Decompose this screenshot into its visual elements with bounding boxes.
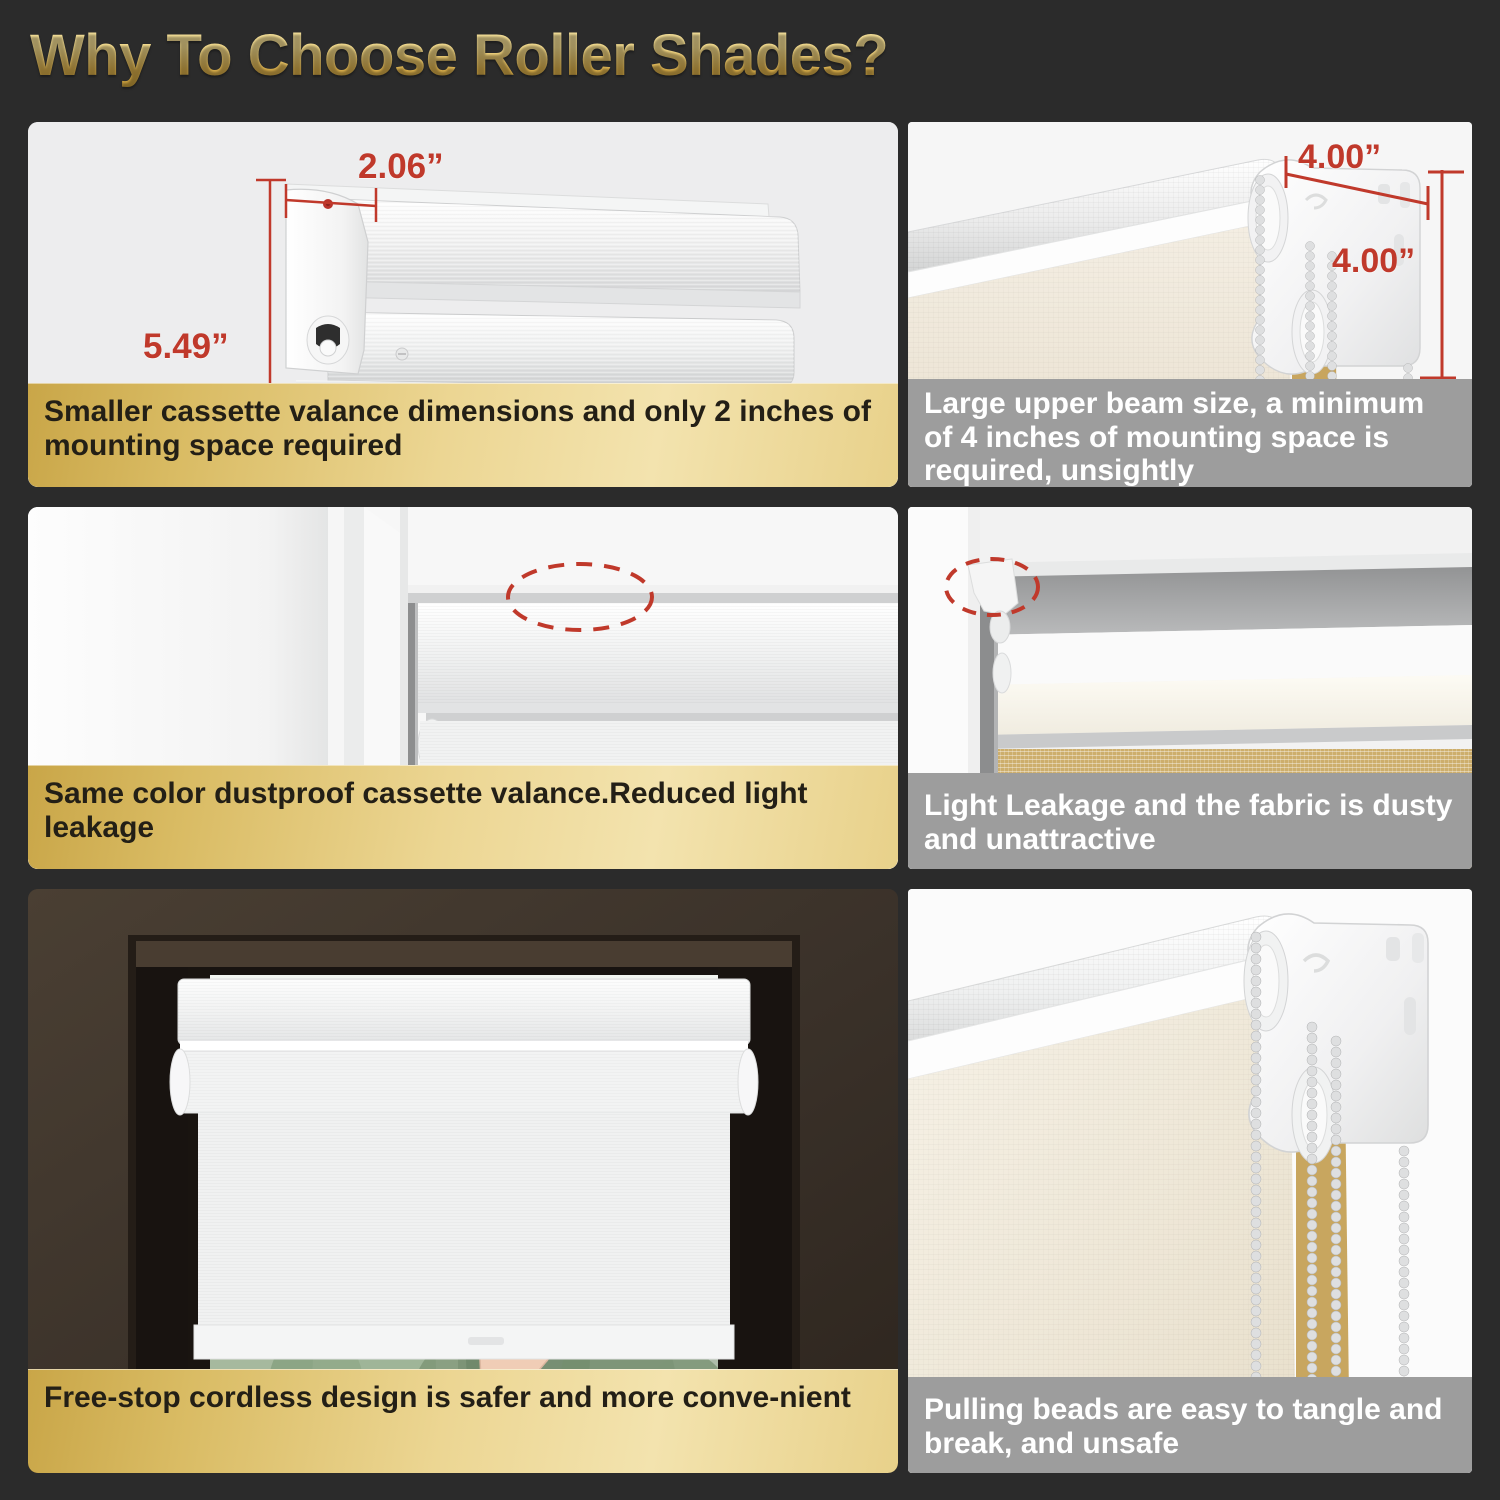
panel-middle-right: Large gap Light Leakage and the fabric i… [908, 507, 1472, 869]
caption-text: Pulling beads are easy to tangle and bre… [924, 1393, 1442, 1460]
caption-text: Smaller cassette valance dimensions and … [44, 395, 871, 462]
panel-bottom-right: Pulling beads are easy to tangle and bre… [908, 889, 1472, 1473]
panel-top-left: 2.06” 5.49” Smaller cassette valance dim… [28, 122, 898, 487]
caption-text: Free-stop cordless design is safer and m… [44, 1381, 851, 1414]
panel-middle-right-caption: Light Leakage and the fabric is dusty an… [908, 773, 1472, 869]
panel-bottom-left-caption: Free-stop cordless design is safer and m… [28, 1369, 898, 1473]
panel-top-left-width-dimension: 2.06” [358, 147, 444, 187]
panel-top-left-caption: Smaller cassette valance dimensions and … [28, 383, 898, 487]
caption-text: Same color dustproof cassette valance.Re… [44, 777, 808, 844]
comparison-grid: 2.06” 5.49” Smaller cassette valance dim… [0, 0, 1500, 1500]
panel-middle-left: smaller gap Same color dustproof cassett… [28, 507, 898, 869]
panel-bottom-left: Free-stop cordless design is safer and m… [28, 889, 898, 1473]
panel-top-right: 4.00” 4.00” Large upper beam size, a min… [908, 122, 1472, 487]
caption-text: Large upper beam size, a minimum of 4 in… [924, 387, 1424, 487]
panel-bottom-right-caption: Pulling beads are easy to tangle and bre… [908, 1377, 1472, 1473]
caption-text: Light Leakage and the fabric is dusty an… [924, 789, 1452, 856]
panel-top-right-height-dimension: 4.00” [1332, 242, 1415, 281]
panel-top-left-height-dimension: 5.49” [143, 327, 229, 367]
panel-top-right-width-dimension: 4.00” [1298, 138, 1381, 177]
panel-middle-left-caption: Same color dustproof cassette valance.Re… [28, 765, 898, 869]
panel-top-right-caption: Large upper beam size, a minimum of 4 in… [908, 379, 1472, 487]
